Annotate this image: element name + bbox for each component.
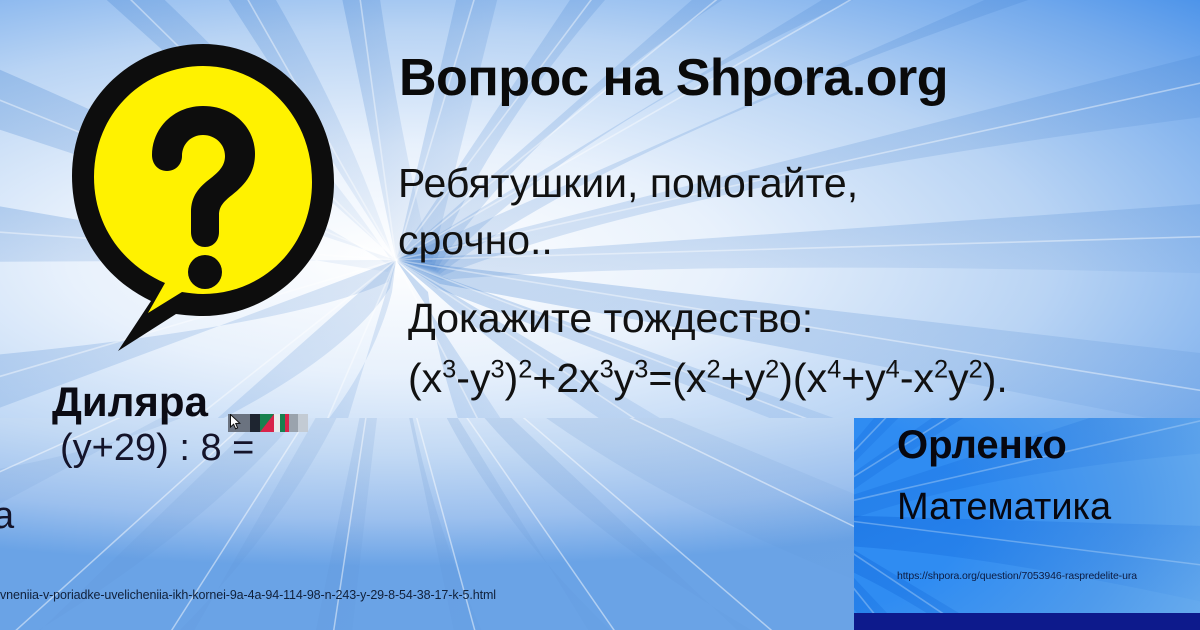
left-equation-text: (y+29) : 8 =	[60, 427, 254, 470]
screenshot-stage: Вопрос на Shpora.org Ребятушкии, помогай…	[0, 0, 1200, 630]
main-question-card: Вопрос на Shpora.org Ребятушкии, помогай…	[0, 0, 1200, 418]
question-speech-bubble-icon	[48, 36, 358, 361]
page-title: Вопрос на Shpora.org	[399, 48, 948, 108]
left-source-url[interactable]: vneniia-v-poriadke-uvelicheniia-ikh-korn…	[0, 588, 496, 602]
question-expression: (x3-y3)2+2x3y3=(x2+y2)(x4+y4-x2y2).	[408, 355, 1008, 402]
left-author-name: Диляра	[52, 378, 208, 426]
right-bottom-bar	[854, 613, 1200, 630]
question-prompt: Докажите тождество:	[408, 295, 813, 342]
right-question-card: Орленко Математика https://shpora.org/qu…	[854, 418, 1200, 630]
right-author-name: Орленко	[897, 423, 1067, 468]
question-body: Ребятушкии, помогайте, срочно..	[398, 155, 1200, 268]
question-body-line-1: Ребятушкии, помогайте,	[398, 160, 858, 206]
right-subject-label: Математика	[897, 486, 1111, 529]
right-source-url[interactable]: https://shpora.org/question/7053946-rasp…	[897, 570, 1137, 582]
mouse-cursor-icon	[230, 414, 241, 435]
left-text-fragment: а	[0, 495, 14, 538]
question-body-line-2: срочно..	[398, 212, 1200, 269]
